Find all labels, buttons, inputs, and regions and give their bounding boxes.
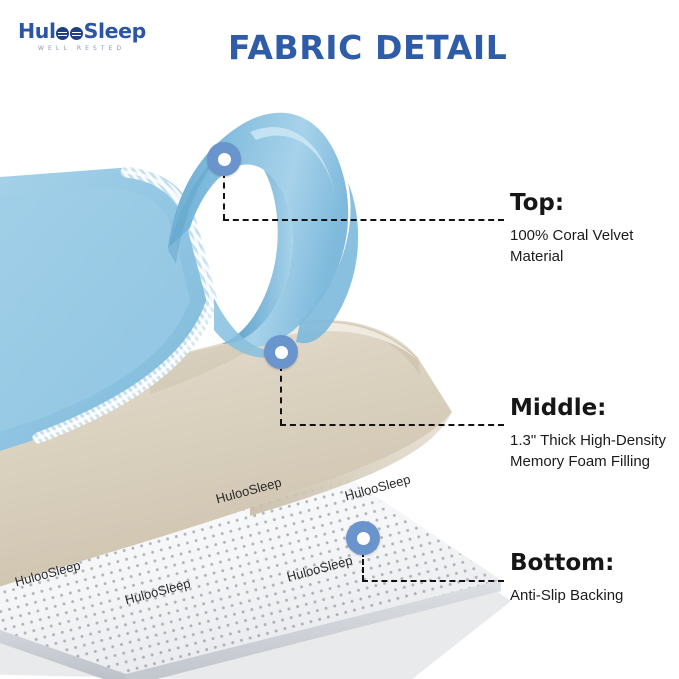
leader-line-bottom-vertical: [362, 551, 364, 581]
infographic-canvas: HulSleep WELL RESTED FABRIC DETAIL: [0, 0, 679, 679]
leader-line-middle-horizontal: [280, 424, 504, 426]
brand-tagline: WELL RESTED: [38, 45, 168, 52]
sleeping-eye-icon-right: [70, 27, 83, 40]
callout-middle-body: 1.3" Thick High-Density Memory Foam Fill…: [510, 430, 679, 472]
callout-marker-bottom: [346, 521, 380, 555]
product-illustration: [0, 60, 520, 679]
callout-bottom-body: Anti-Slip Backing: [510, 585, 679, 606]
leader-line-bottom-horizontal: [362, 580, 504, 582]
brand-logo: HulSleep WELL RESTED: [18, 20, 168, 56]
callout-marker-top: [207, 142, 241, 176]
callout-middle-heading: Middle:: [510, 395, 679, 422]
callout-top: Top: 100% Coral Velvet Material: [510, 190, 679, 267]
callout-marker-middle: [264, 335, 298, 369]
leader-line-middle-vertical: [280, 365, 282, 425]
brand-wordmark: HulSleep: [18, 20, 168, 42]
callout-bottom-heading: Bottom:: [510, 550, 679, 577]
leader-line-top-horizontal: [223, 219, 504, 221]
brand-name-part2: Sleep: [84, 19, 146, 43]
callout-top-body: 100% Coral Velvet Material: [510, 225, 679, 267]
callout-middle: Middle: 1.3" Thick High-Density Memory F…: [510, 395, 679, 472]
leader-line-top-vertical: [223, 172, 225, 220]
callout-bottom: Bottom: Anti-Slip Backing: [510, 550, 679, 606]
brand-name-part1: Hul: [18, 19, 56, 43]
callout-top-heading: Top:: [510, 190, 679, 217]
sleeping-eye-icon-left: [56, 27, 69, 40]
